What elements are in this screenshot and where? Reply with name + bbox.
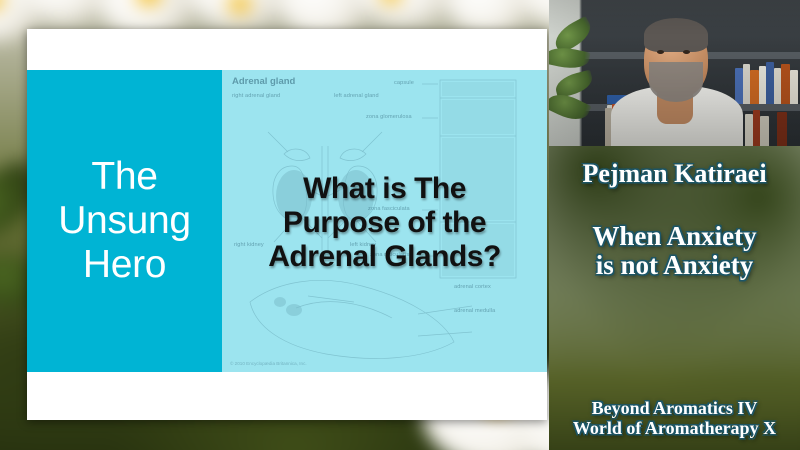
talk-title-line-2: is not Anxiety: [549, 251, 800, 280]
event-line-2: World of Aromatherapy X: [549, 419, 800, 438]
unsung-line-3: Hero: [58, 243, 191, 287]
diagram-label-left-adrenal-gland: left adrenal gland: [334, 93, 379, 99]
diagram-credit: © 2010 Encyclopædia Britannica, Inc.: [230, 361, 307, 366]
diagram-label-capsule: capsule: [394, 80, 414, 86]
diagram-label-zona-glomerulosa: zona glomerulosa: [366, 114, 412, 120]
unsung-hero-title: The Unsung Hero: [52, 155, 197, 286]
speaker-name: Pejman Katiraei: [549, 160, 800, 188]
slide-headline: What is The Purpose of the Adrenal Gland…: [222, 172, 547, 275]
talk-title-line-1: When Anxiety: [549, 222, 800, 251]
headline-line-2: Purpose of the: [230, 206, 539, 240]
headline-line-3: Adrenal Glands?: [230, 240, 539, 274]
headline-line-1: What is The: [230, 172, 539, 206]
slide-right-block: Adrenal gland right adrenal gland left a…: [222, 70, 547, 372]
unsung-line-2: Unsung: [58, 199, 191, 243]
diagram-label-adrenal-cortex: adrenal cortex: [454, 284, 491, 290]
talk-title: When Anxiety is not Anxiety: [549, 222, 800, 280]
title-card: Pejman Katiraei When Anxiety is not Anxi…: [549, 146, 800, 450]
speaker-panel: Pejman Katiraei When Anxiety is not Anxi…: [549, 0, 800, 450]
diagram-label-adrenal-medulla: adrenal medulla: [454, 308, 495, 314]
presentation-screenshot: The Unsung Hero: [0, 0, 800, 450]
speaker-video-feed[interactable]: [549, 0, 800, 146]
event-line-1: Beyond Aromatics IV: [549, 399, 800, 418]
diagram-label-right-adrenal-gland: right adrenal gland: [232, 93, 280, 99]
slide-content: The Unsung Hero: [27, 70, 547, 372]
event-name: Beyond Aromatics IV World of Aromatherap…: [549, 399, 800, 438]
diagram-title: Adrenal gland: [232, 76, 295, 87]
unsung-line-1: The: [58, 155, 191, 199]
webcam-vignette: [549, 0, 800, 146]
presentation-slide: The Unsung Hero: [27, 29, 547, 420]
slide-left-accent-block: The Unsung Hero: [27, 70, 222, 372]
